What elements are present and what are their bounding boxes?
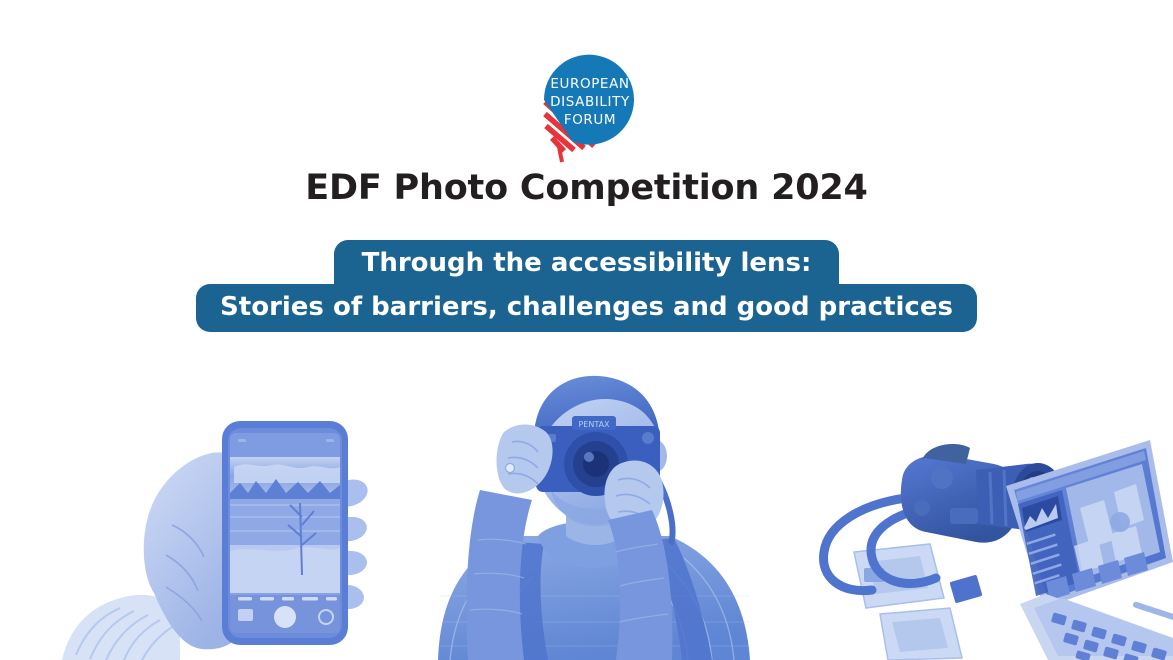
shutter-button: [274, 606, 296, 628]
photo-strip: PENTAX: [0, 355, 1173, 660]
photo-photographer-with-film-camera: PENTAX: [420, 360, 765, 660]
mode-dial: [931, 467, 953, 489]
photo-hand-holding-smartphone-camera: [62, 405, 412, 660]
smartphone-photo-icon: [62, 405, 412, 660]
photo-competition-poster: EUROPEAN DISABILITY FORUM EDF Photo Comp…: [0, 0, 1173, 660]
phone-screen: [230, 433, 340, 638]
logo-line-2: DISABILITY: [550, 94, 630, 110]
camera-grip-detail: [950, 508, 978, 524]
shutter-dial: [642, 432, 654, 444]
rear-dial: [914, 500, 930, 516]
logo-line-3: FORUM: [563, 112, 615, 128]
stylus-pen: [1132, 601, 1173, 621]
gallery-thumb: [238, 609, 253, 621]
ring: [506, 464, 515, 473]
photo-dslr-camera-and-laptop-workspace: [780, 412, 1173, 660]
grass-bank: [230, 547, 340, 595]
keyboard-deck: [1034, 598, 1173, 656]
camera-brand-label: PENTAX: [578, 420, 610, 429]
gear-laptop-photo-icon: [780, 412, 1173, 660]
canvas-circle-graphic: [1110, 512, 1130, 532]
photographer-photo-icon: PENTAX: [420, 360, 765, 660]
subtitle-banner: Through the accessibility lens: Stories …: [0, 240, 1173, 332]
logo-line-1: EUROPEAN: [550, 76, 629, 92]
sd-card: [950, 575, 983, 604]
edf-logo: EUROPEAN DISABILITY FORUM: [522, 38, 652, 163]
lens-reflection: [584, 452, 594, 462]
subtitle-line-1: Through the accessibility lens:: [334, 240, 840, 285]
edf-logo-icon: EUROPEAN DISABILITY FORUM: [522, 38, 652, 163]
page-title: EDF Photo Competition 2024: [0, 168, 1173, 208]
subtitle-line-2: Stories of barriers, challenges and good…: [196, 284, 977, 332]
